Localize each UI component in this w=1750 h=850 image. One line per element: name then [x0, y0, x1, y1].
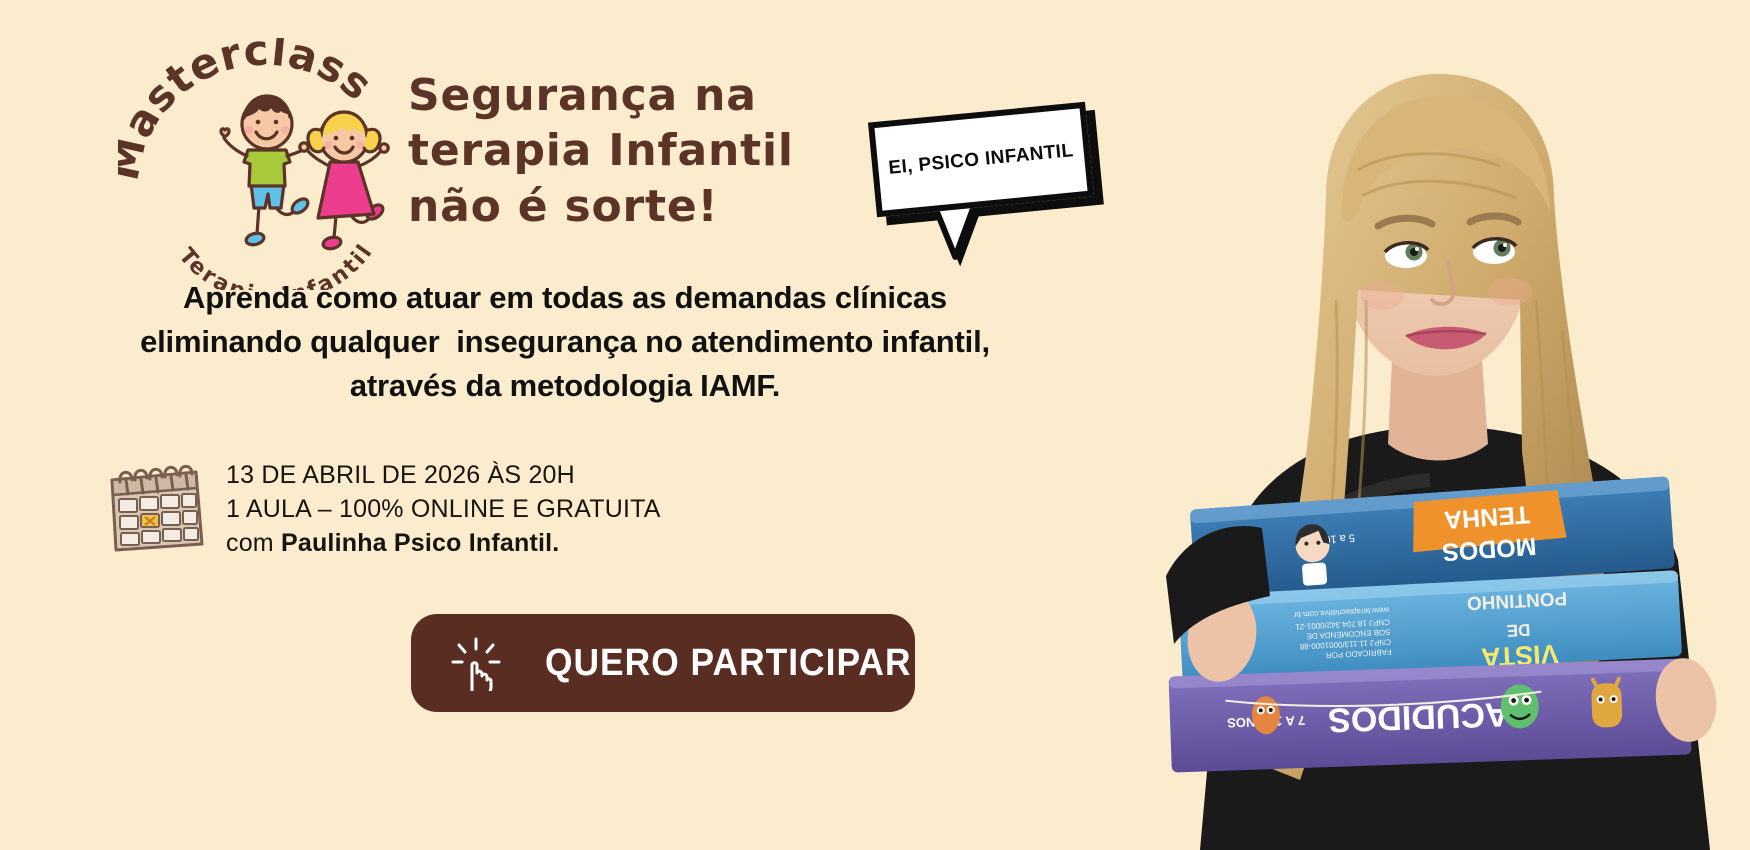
presenter-name: Paulinha Psico Infantil.: [281, 529, 559, 557]
presenter-photo: TENHA MODOS 5 a 10 anos PONTINHO DE VI: [1130, 0, 1750, 850]
quero-participar-button[interactable]: QUERO PARTICIPAR: [411, 614, 915, 712]
headline-line-2: terapia Infantil: [408, 123, 878, 178]
landing-page-banner: Masterclass Terapia Infantil: [0, 0, 1750, 850]
event-details: 13 DE ABRIL DE 2026 ÀS 20H 1 AULA – 100%…: [104, 452, 661, 560]
speech-bubble: EI, PSICO INFANTIL: [868, 102, 1094, 217]
calendar-icon: [104, 458, 208, 554]
detail-line-format: 1 AULA – 100% ONLINE E GRATUITA: [226, 492, 661, 526]
logo-girl-illustration: [300, 112, 388, 250]
headline-line-1: Segurança na: [408, 68, 878, 123]
event-details-text: 13 DE ABRIL DE 2026 ÀS 20H 1 AULA – 100%…: [226, 452, 661, 560]
detail-line-date: 13 DE ABRIL DE 2026 ÀS 20H: [226, 458, 661, 492]
logo-boy-illustration: [221, 96, 321, 247]
presenter-prefix: com: [226, 529, 281, 557]
svg-text:DE: DE: [1506, 620, 1531, 640]
click-hand-icon: [449, 635, 503, 691]
detail-line-presenter: com Paulinha Psico Infantil.: [226, 526, 661, 560]
subheadline-line-2: eliminando qualquer insegurança no atend…: [60, 320, 1070, 364]
page-headline: Segurança na terapia Infantil não é sort…: [408, 68, 878, 234]
masterclass-logo: Masterclass Terapia Infantil: [118, 38, 408, 290]
subheadline-line-3: através da metodologia IAMF.: [60, 364, 1070, 408]
box-title-tenha-modos: TENHA: [1443, 500, 1531, 534]
headline-line-3: não é sorte!: [408, 179, 878, 234]
page-subheadline: Aprenda como atuar em todas as demandas …: [60, 276, 1070, 408]
cta-button-label: QUERO PARTICIPAR: [545, 644, 912, 682]
subheadline-line-1: Aprenda como atuar em todas as demandas …: [60, 276, 1070, 320]
